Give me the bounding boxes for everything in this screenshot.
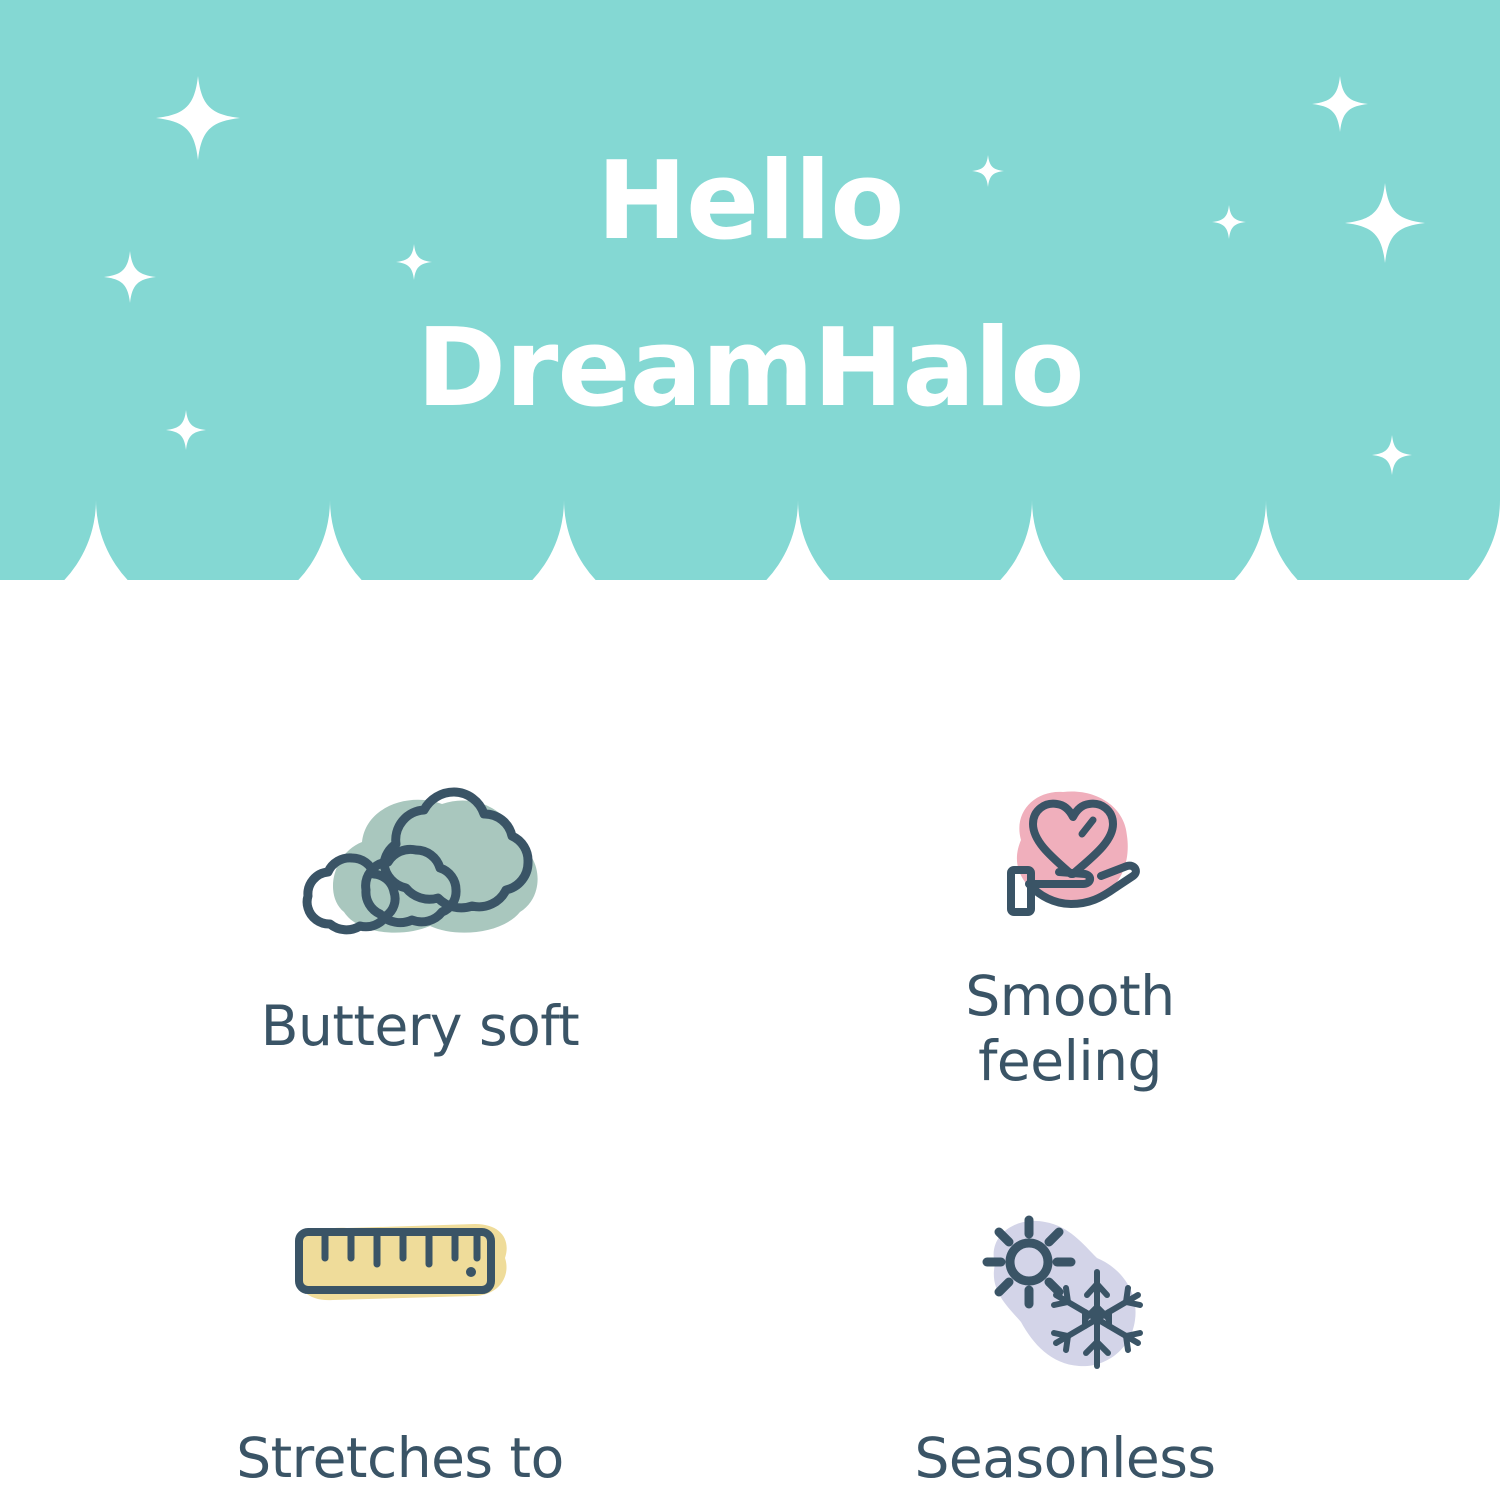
sun-snowflake-icon — [805, 1210, 1325, 1400]
feature-caption-stretches: Stretches to fit longer — [140, 1426, 660, 1492]
hero-background-shape — [0, 0, 1500, 580]
hand-cuff — [1011, 870, 1031, 912]
hero-banner: Hello DreamHalo — [0, 0, 1500, 580]
feature-caption-buttery-soft: Buttery soft — [160, 994, 680, 1059]
feature-item-smooth-feeling: Smooth feeling — [810, 778, 1330, 1094]
cloud-icon — [160, 778, 680, 968]
product-feature-graphic: Hello DreamHalo Buttery soft — [0, 0, 1500, 1492]
ruler-dot — [466, 1267, 476, 1277]
feature-caption-smooth-feeling: Smooth feeling — [810, 964, 1330, 1094]
feature-item-buttery-soft: Buttery soft — [160, 778, 680, 1059]
hand-holding-heart-icon — [810, 778, 1330, 938]
feature-item-seasonless: Seasonless — [805, 1210, 1325, 1491]
feature-caption-seasonless: Seasonless — [805, 1426, 1325, 1491]
feature-grid: Buttery soft Smooth feeling — [0, 760, 1500, 1492]
feature-item-stretches: Stretches to fit longer — [140, 1210, 660, 1492]
ruler-icon — [140, 1210, 660, 1400]
hero-teal-fill — [0, 0, 1500, 580]
